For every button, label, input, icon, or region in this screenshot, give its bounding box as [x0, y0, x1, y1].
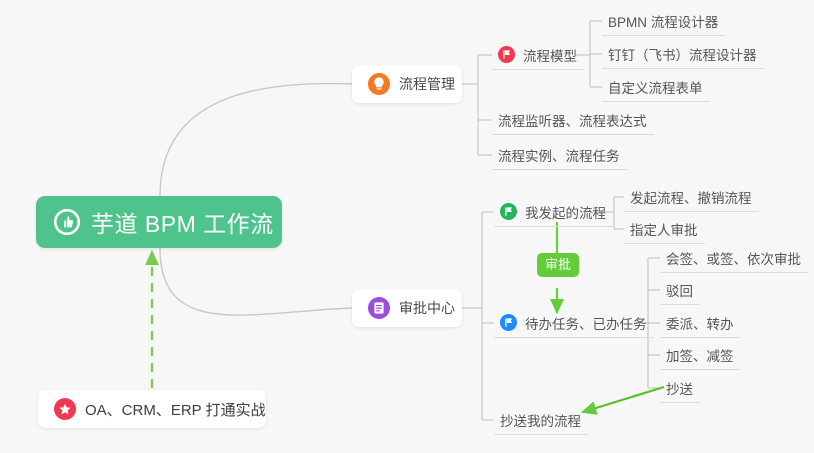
leaf-label-delegate-transfer: 委派、转办: [666, 313, 734, 333]
leaf-node-add-remove-sign[interactable]: 加签、减签: [660, 340, 741, 370]
leaf-node-start-cancel-process[interactable]: 发起流程、撤销流程: [624, 182, 759, 212]
approve-annotation-badge: 审批: [537, 253, 579, 277]
leaf-node-dingtalk-feishu-designer[interactable]: 钉钉（飞书）流程设计器: [602, 39, 764, 69]
leaf-node-assignee-approve[interactable]: 指定人审批: [624, 214, 705, 244]
leaf-node-countersign[interactable]: 会签、或签、依次审批: [660, 243, 808, 273]
star-icon: [54, 398, 76, 420]
leaf-label-dingtalk-feishu-designer: 钉钉（飞书）流程设计器: [608, 44, 757, 64]
leaf-node-todo-done-task[interactable]: 待办任务、已办任务: [494, 308, 654, 338]
approve-annotation-label: 审批: [545, 257, 571, 272]
leaf-label-start-cancel-process: 发起流程、撤销流程: [630, 187, 752, 207]
flag-icon: [500, 203, 517, 220]
leaf-node-cc[interactable]: 抄送: [660, 373, 700, 403]
leaf-label-cc-to-me-process: 抄送我的流程: [500, 410, 581, 430]
leaf-node-listener-expression[interactable]: 流程监听器、流程表达式: [492, 105, 654, 135]
flag-icon: [498, 46, 515, 63]
leaf-node-instance-task[interactable]: 流程实例、流程任务: [492, 140, 627, 170]
leaf-node-reject[interactable]: 驳回: [660, 275, 700, 305]
leaf-node-delegate-transfer[interactable]: 委派、转办: [660, 308, 741, 338]
branch-label-shenpi-zhongxin: 审批中心: [399, 298, 455, 318]
root-label: 芋道 BPM 工作流: [91, 205, 274, 239]
leaf-node-custom-process-form[interactable]: 自定义流程表单: [602, 72, 710, 102]
annotation-arrow-cc-to-process: [583, 387, 664, 412]
bottom-note-label: OA、CRM、ERP 打通实战: [85, 399, 266, 420]
bottom-note-node[interactable]: OA、CRM、ERP 打通实战: [38, 390, 266, 428]
branch-node-liucheng-guanli[interactable]: 流程管理: [352, 65, 462, 103]
leaf-label-instance-task: 流程实例、流程任务: [498, 145, 620, 165]
clipboard-icon: [368, 297, 390, 319]
leaf-label-add-remove-sign: 加签、减签: [666, 345, 734, 365]
leaf-node-liucheng-moxing[interactable]: 流程模型: [492, 40, 584, 70]
leaf-label-liucheng-moxing: 流程模型: [523, 45, 577, 65]
leaf-label-bpmn-designer: BPMN 流程设计器: [608, 11, 718, 31]
lightbulb-icon: [368, 73, 390, 95]
leaf-node-cc-to-me-process[interactable]: 抄送我的流程: [494, 405, 588, 435]
leaf-label-todo-done-task: 待办任务、已办任务: [525, 313, 647, 333]
leaf-node-my-started-process[interactable]: 我发起的流程: [494, 197, 613, 227]
leaf-label-my-started-process: 我发起的流程: [525, 202, 606, 222]
branch-node-shenpi-zhongxin[interactable]: 审批中心: [352, 289, 462, 327]
thumbs-up-icon: [54, 209, 80, 235]
leaf-label-listener-expression: 流程监听器、流程表达式: [498, 110, 647, 130]
edge-root-to-liucheng-guanli: [160, 84, 352, 196]
leaf-node-bpmn-designer[interactable]: BPMN 流程设计器: [602, 6, 725, 36]
leaf-label-countersign: 会签、或签、依次审批: [666, 248, 801, 268]
flag-icon: [500, 314, 517, 331]
leaf-label-cc: 抄送: [666, 378, 693, 398]
mindmap-canvas: 芋道 BPM 工作流 流程管理 流程模型 BPMN 流程设计器 钉钉（飞书）流程…: [0, 0, 814, 453]
branch-label-liucheng-guanli: 流程管理: [399, 74, 455, 94]
leaf-label-custom-process-form: 自定义流程表单: [608, 77, 703, 97]
leaf-label-assignee-approve: 指定人审批: [630, 219, 698, 239]
leaf-label-reject: 驳回: [666, 280, 693, 300]
edge-root-to-shenpi-zhongxin: [160, 248, 352, 315]
root-node[interactable]: 芋道 BPM 工作流: [36, 196, 282, 248]
